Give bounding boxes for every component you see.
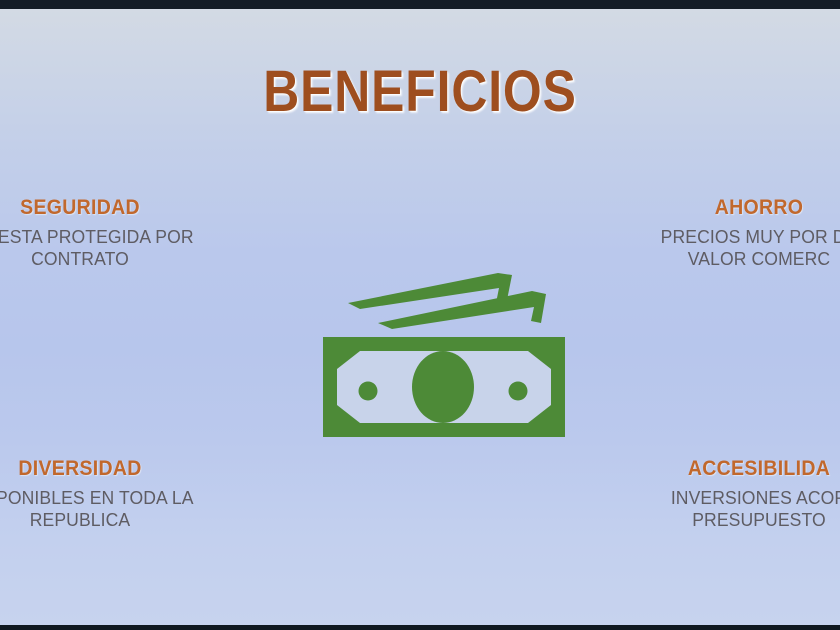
letterbox-bar-bottom bbox=[0, 625, 840, 630]
benefit-heading-seguridad: SEGURIDAD bbox=[0, 195, 233, 221]
benefit-heading-diversidad: DIVERSIDAD bbox=[0, 456, 233, 482]
benefit-body-line: VALOR COMERC bbox=[602, 248, 840, 271]
presentation-slide: BENEFICIOS SEGURIDAD ON ESTA PROTEGIDA P… bbox=[0, 0, 840, 630]
benefit-body-seguridad: ON ESTA PROTEGIDA POR CONTRATO bbox=[0, 226, 237, 271]
benefit-block-ahorro: AHORRO PRECIOS MUY POR DE VALOR COMERC bbox=[594, 195, 840, 271]
benefit-heading-ahorro: AHORRO bbox=[606, 195, 840, 221]
benefit-block-seguridad: SEGURIDAD ON ESTA PROTEGIDA POR CONTRATO bbox=[0, 195, 245, 271]
benefit-block-diversidad: DIVERSIDAD DISPONIBLES EN TODA LA REPUBL… bbox=[0, 456, 245, 532]
benefit-body-ahorro: PRECIOS MUY POR DE VALOR COMERC bbox=[602, 226, 840, 271]
benefit-body-accesibilidad: INVERSIONES ACOR PRESUPUESTO bbox=[602, 487, 840, 532]
letterbox-bar-top bbox=[0, 0, 840, 9]
money-banknote-graphic bbox=[300, 261, 580, 451]
benefit-body-line: PRECIOS MUY POR DE bbox=[602, 226, 840, 249]
slide-canvas: BENEFICIOS SEGURIDAD ON ESTA PROTEGIDA P… bbox=[0, 9, 840, 625]
benefit-body-line: DISPONIBLES EN TODA LA bbox=[0, 487, 237, 510]
benefit-body-line: CONTRATO bbox=[0, 248, 237, 271]
benefit-body-line: ON ESTA PROTEGIDA POR bbox=[0, 226, 237, 249]
benefit-block-accesibilidad: ACCESIBILIDA INVERSIONES ACOR PRESUPUEST… bbox=[594, 456, 840, 532]
benefit-body-line: INVERSIONES ACOR bbox=[602, 487, 840, 510]
banknote-dot-left bbox=[359, 382, 378, 401]
benefit-body-line: REPUBLICA bbox=[0, 509, 237, 532]
money-banknote-icon bbox=[300, 261, 580, 451]
benefit-heading-accesibilidad: ACCESIBILIDA bbox=[606, 456, 840, 482]
benefit-body-diversidad: DISPONIBLES EN TODA LA REPUBLICA bbox=[0, 487, 237, 532]
page-title: BENEFICIOS bbox=[59, 63, 781, 121]
banknote-dot-right bbox=[509, 382, 528, 401]
benefit-body-line: PRESUPUESTO bbox=[602, 509, 840, 532]
banknote-center-oval bbox=[412, 351, 474, 423]
